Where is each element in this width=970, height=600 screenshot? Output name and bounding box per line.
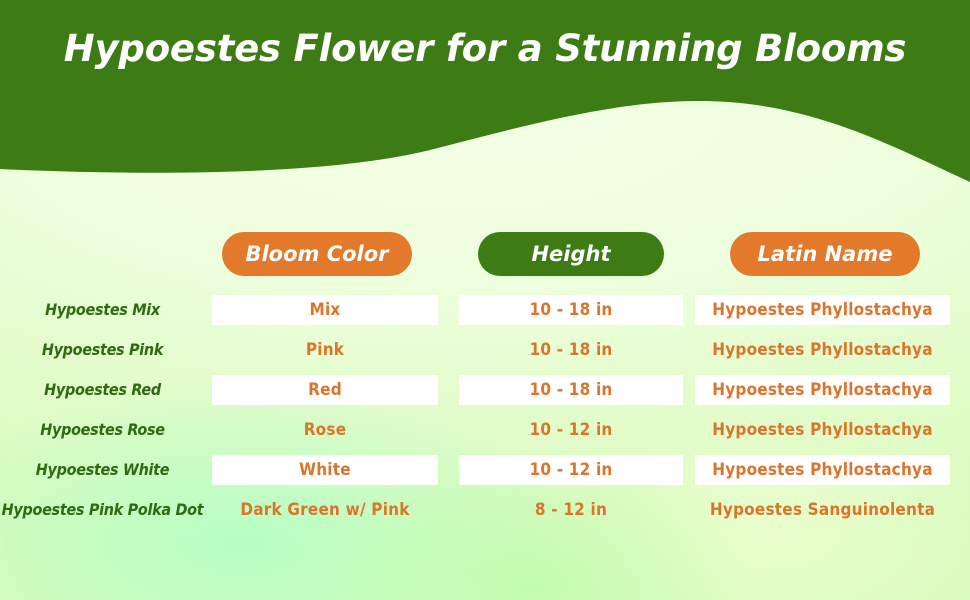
cell-height: 10 - 18 in (459, 335, 683, 365)
cell-latin-name: Hypoestes Phyllostachya (695, 295, 950, 325)
cell-bloom-color: Pink (212, 335, 438, 365)
column-header-height: Height (478, 232, 664, 276)
row-label: Hypoestes Rose (0, 415, 205, 445)
table-body: Hypoestes Mix Mix 10 - 18 in Hypoestes P… (0, 295, 970, 535)
infographic-poster: Hypoestes Flower for a Stunning Blooms B… (0, 0, 970, 600)
cell-height: 10 - 12 in (459, 455, 683, 485)
cell-latin-name: Hypoestes Phyllostachya (695, 375, 950, 405)
row-label: Hypoestes White (0, 455, 205, 485)
row-label: Hypoestes Red (0, 375, 205, 405)
cell-latin-name: Hypoestes Sanguinolenta (695, 495, 950, 525)
cell-bloom-color: Rose (212, 415, 438, 445)
column-header-latin-name: Latin Name (730, 232, 920, 276)
cell-bloom-color: Mix (212, 295, 438, 325)
cell-latin-name: Hypoestes Phyllostachya (695, 335, 950, 365)
table-row: Hypoestes Pink Pink 10 - 18 in Hypoestes… (0, 335, 970, 375)
cell-bloom-color: Red (212, 375, 438, 405)
row-label: Hypoestes Mix (0, 295, 205, 325)
cell-latin-name: Hypoestes Phyllostachya (695, 455, 950, 485)
table-row: Hypoestes Mix Mix 10 - 18 in Hypoestes P… (0, 295, 970, 335)
row-label: Hypoestes Pink (0, 335, 205, 365)
cell-height: 10 - 12 in (459, 415, 683, 445)
page-title: Hypoestes Flower for a Stunning Blooms (0, 27, 970, 70)
cell-bloom-color: Dark Green w/ Pink (212, 495, 438, 525)
cell-height: 10 - 18 in (459, 295, 683, 325)
cell-height: 10 - 18 in (459, 375, 683, 405)
table-row: Hypoestes Red Red 10 - 18 in Hypoestes P… (0, 375, 970, 415)
table-row: Hypoestes Pink Polka Dot Dark Green w/ P… (0, 495, 970, 535)
cell-bloom-color: White (212, 455, 438, 485)
plant-comparison-table: Bloom Color Height Latin Name Hypoestes … (0, 232, 970, 535)
table-row: Hypoestes White White 10 - 12 in Hypoest… (0, 455, 970, 495)
table-row: Hypoestes Rose Rose 10 - 12 in Hypoestes… (0, 415, 970, 455)
cell-height: 8 - 12 in (459, 495, 683, 525)
row-label: Hypoestes Pink Polka Dot (0, 495, 205, 525)
table-header-row: Bloom Color Height Latin Name (0, 232, 970, 280)
cell-latin-name: Hypoestes Phyllostachya (695, 415, 950, 445)
column-header-bloom-color: Bloom Color (222, 232, 412, 276)
